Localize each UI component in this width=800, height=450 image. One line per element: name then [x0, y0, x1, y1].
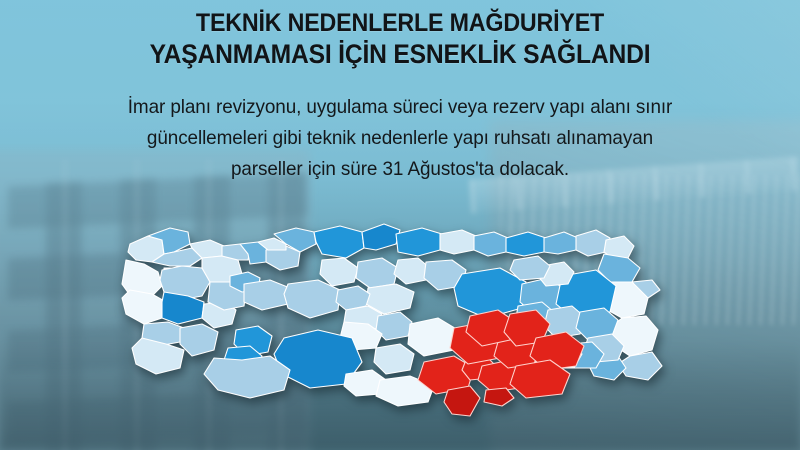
province-sinop [362, 224, 400, 250]
body-copy: İmar planı revizyonu, uygulama süreci ve… [12, 92, 788, 185]
province-kayseri [408, 318, 458, 356]
province-corum [356, 258, 398, 288]
province-cankiri [320, 258, 358, 286]
province-kilis [484, 388, 514, 406]
headline-line-1: TEKNİK NEDENLERLE MAĞDURİYET [28, 8, 772, 39]
province-gumushane [510, 256, 550, 280]
infographic-stage: TEKNİK NEDENLERLE MAĞDURİYET YAŞANMAMASI… [0, 0, 800, 450]
body-line-2: güncellemeleri gibi teknik nedenlerle ya… [12, 123, 788, 154]
province-kastamonu [314, 226, 364, 258]
province-eskisehir [244, 280, 290, 310]
province-giresun [474, 232, 508, 256]
headline: TEKNİK NEDENLERLE MAĞDURİYET YAŞANMAMASI… [28, 8, 772, 70]
province-denizli [180, 324, 218, 356]
province-group [122, 224, 662, 416]
province-izmir [122, 290, 166, 324]
province-ordu [440, 230, 476, 254]
province-antalya [204, 356, 290, 398]
province-mugla [132, 338, 184, 374]
turkey-map-svg [118, 198, 678, 428]
province-rize [544, 232, 578, 254]
province-nigde [374, 344, 414, 374]
province-samsun [396, 228, 442, 256]
headline-line-2: YAŞANMAMASI İÇİN ESNEKLİK SAĞLANDI [28, 39, 772, 70]
body-line-1: İmar planı revizyonu, uygulama süreci ve… [12, 92, 788, 123]
body-line-3: parseller için süre 31 Ağustos'ta dolaca… [12, 154, 788, 185]
turkey-province-map [118, 198, 678, 428]
province-hatay [444, 386, 480, 416]
province-trabzon [506, 232, 546, 256]
